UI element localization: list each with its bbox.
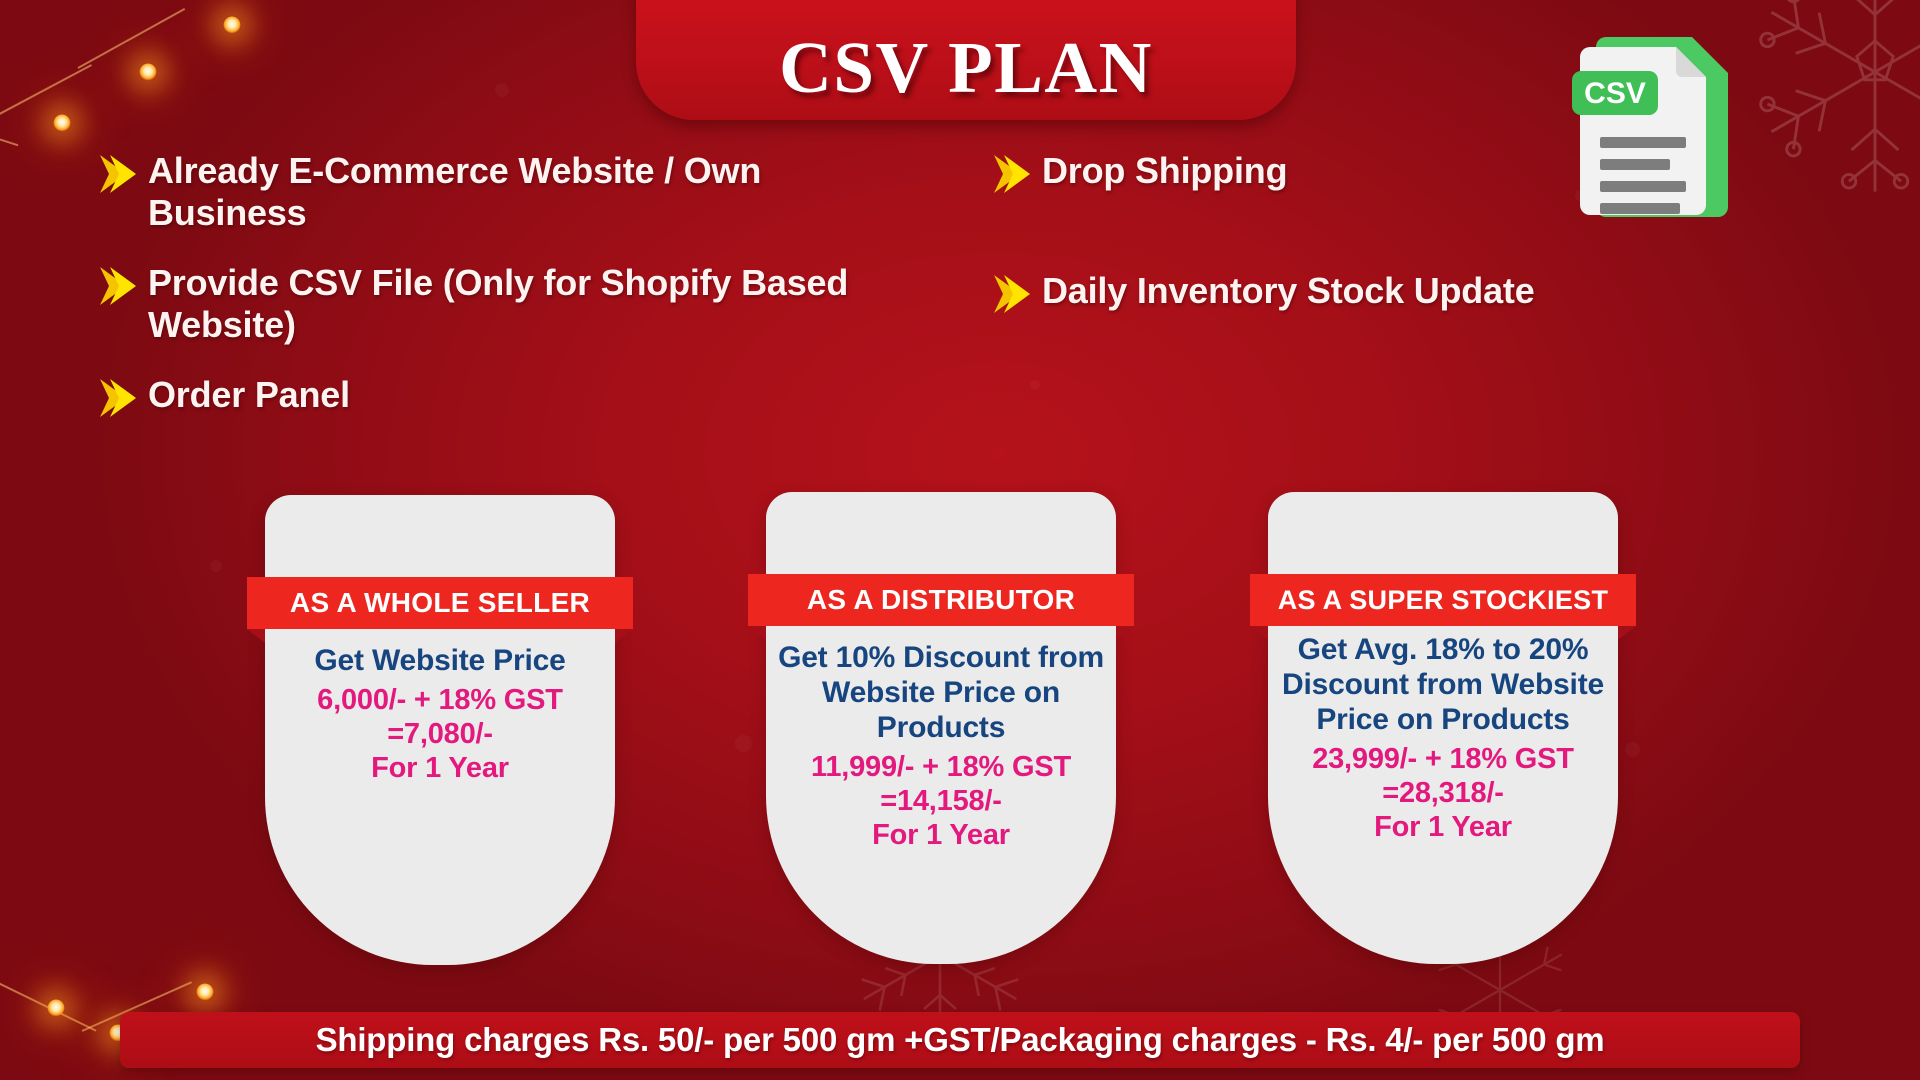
plan-ribbon-label: AS A DISTRIBUTOR <box>807 584 1075 616</box>
chevron-right-icon <box>96 376 142 420</box>
chevron-right-icon <box>990 272 1036 316</box>
background-dot <box>495 83 509 97</box>
feature-item: Drop Shipping <box>990 150 1750 196</box>
footer-banner: Shipping charges Rs. 50/- per 500 gm +GS… <box>120 1012 1800 1068</box>
ribbon-fold-left <box>1250 626 1268 640</box>
chevron-right-icon <box>96 264 142 308</box>
chevron-right-icon <box>96 152 142 196</box>
plan-price-line: For 1 Year <box>277 752 603 786</box>
plan-ribbon: AS A SUPER STOCKIEST <box>1250 574 1636 626</box>
plan-heading: Get Website Price <box>277 643 603 678</box>
plan-price-line: 6,000/- + 18% GST <box>277 684 603 718</box>
plan-heading: Get 10% Discount from Website Price on P… <box>778 640 1104 745</box>
plan-price-line: =7,080/- <box>277 718 603 752</box>
feature-label: Provide CSV File (Only for Shopify Based… <box>148 262 896 347</box>
title-banner: CSV PLAN <box>636 0 1296 120</box>
background-dot <box>210 560 222 572</box>
pricing-card[interactable]: AS A DISTRIBUTOR Get 10% Discount from W… <box>766 492 1116 964</box>
feature-item: Provide CSV File (Only for Shopify Based… <box>96 262 896 347</box>
plan-price-line: 11,999/- + 18% GST <box>778 751 1104 785</box>
light-bulb <box>54 115 71 132</box>
plan-body: Get Website Price 6,000/- + 18% GST =7,0… <box>265 643 615 786</box>
ribbon-fold-right <box>1116 626 1134 640</box>
feature-label: Drop Shipping <box>1042 150 1287 192</box>
light-bulb <box>224 17 241 34</box>
background-dot <box>1625 742 1640 757</box>
feature-label: Daily Inventory Stock Update <box>1042 270 1535 312</box>
feature-label: Order Panel <box>148 374 350 416</box>
feature-item: Order Panel <box>96 374 896 420</box>
plan-heading: Get Avg. 18% to 20% Discount from Websit… <box>1280 632 1606 737</box>
feature-list-left: Already E-Commerce Website / Own Busines… <box>96 150 896 447</box>
feature-item: Already E-Commerce Website / Own Busines… <box>96 150 896 235</box>
snowflake-icon <box>1745 0 1920 202</box>
page-title: CSV PLAN <box>779 31 1153 104</box>
background-dot <box>1030 380 1040 390</box>
plan-price-line: For 1 Year <box>778 819 1104 853</box>
svg-text:CSV: CSV <box>1584 77 1646 110</box>
light-bulb <box>197 984 214 1001</box>
chevron-right-icon <box>990 152 1036 196</box>
plan-ribbon: AS A DISTRIBUTOR <box>748 574 1134 626</box>
footer-text: Shipping charges Rs. 50/- per 500 gm +GS… <box>316 1021 1605 1059</box>
ribbon-fold-right <box>615 629 633 643</box>
plan-ribbon-label: AS A WHOLE SELLER <box>290 587 590 619</box>
light-bulb <box>48 1000 65 1017</box>
plan-price-line: For 1 Year <box>1280 811 1606 845</box>
plan-body: Get Avg. 18% to 20% Discount from Websit… <box>1268 632 1618 845</box>
plan-price-line: 23,999/- + 18% GST <box>1280 743 1606 777</box>
feature-item: Daily Inventory Stock Update <box>990 270 1750 316</box>
plan-price-line: =28,318/- <box>1280 777 1606 811</box>
feature-list-right: Drop Shipping Daily Inventory Stock Upda… <box>990 150 1750 343</box>
ribbon-fold-left <box>748 626 766 640</box>
plan-ribbon-label: AS A SUPER STOCKIEST <box>1278 585 1609 616</box>
plan-price-line: =14,158/- <box>778 785 1104 819</box>
feature-label: Already E-Commerce Website / Own Busines… <box>148 150 896 235</box>
plan-ribbon: AS A WHOLE SELLER <box>247 577 633 629</box>
ribbon-fold-right <box>1618 626 1636 640</box>
plan-body: Get 10% Discount from Website Price on P… <box>766 640 1116 853</box>
ribbon-fold-left <box>247 629 265 643</box>
pricing-card[interactable]: AS A SUPER STOCKIEST Get Avg. 18% to 20%… <box>1268 492 1618 964</box>
pricing-card[interactable]: AS A WHOLE SELLER Get Website Price 6,00… <box>265 495 615 965</box>
poster-canvas: CSV PLAN CSV <box>0 0 1920 1080</box>
background-dot <box>735 735 752 752</box>
light-bulb <box>140 64 157 81</box>
